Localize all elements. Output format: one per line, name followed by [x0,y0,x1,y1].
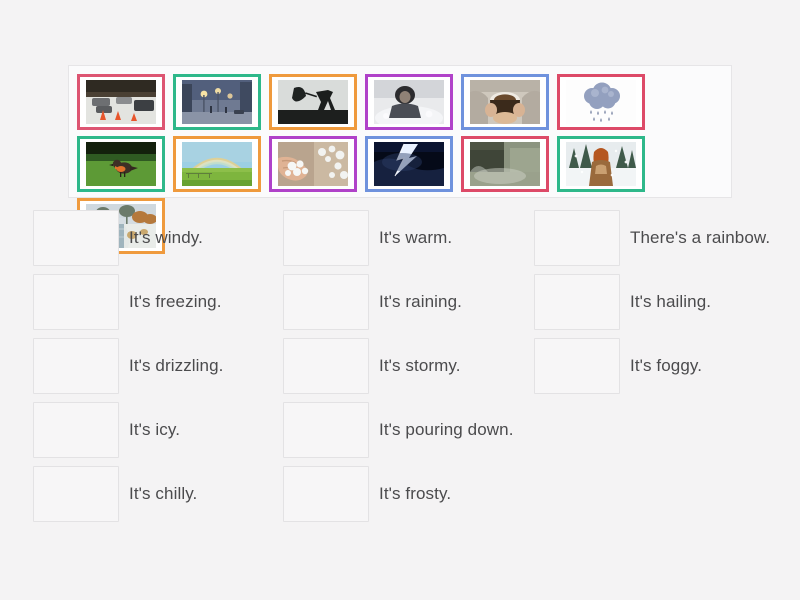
dropzone-raining[interactable] [283,274,369,330]
tile-hailstones[interactable] [269,136,357,192]
answer-chilly: It's chilly. [33,466,273,522]
misty-bridge-photo [470,142,540,186]
girl-in-snow-photo [566,142,636,186]
answer-foggy-label: It's foggy. [630,355,702,376]
answer-windy-label: It's windy. [129,227,203,248]
dropzone-pouring-down[interactable] [283,402,369,458]
hot-drink-hands-photo [470,80,540,124]
answer-pouring-down: It's pouring down. [283,402,523,458]
answer-hailing: It's hailing. [534,274,774,330]
windy-umbrella-photo [278,80,348,124]
hailstones-in-hand-photo [278,142,348,186]
answer-stormy-label: It's stormy. [379,355,461,376]
answer-rainbow-label: There's a rainbow. [630,227,770,248]
dropzone-icy[interactable] [33,402,119,458]
answer-icy-label: It's icy. [129,419,180,440]
tile-snowy-street[interactable] [77,74,165,130]
answer-column-1: It's windy.It's freezing.It's drizzling.… [33,210,273,530]
snowy-street-photo [86,80,156,124]
answer-pouring-down-label: It's pouring down. [379,419,514,440]
rain-cloud-illustration [566,80,636,124]
dropzone-foggy[interactable] [534,338,620,394]
answer-hailing-label: It's hailing. [630,291,711,312]
answer-column-3: There's a rainbow.It's hailing.It's fogg… [534,210,774,402]
tile-freezing-snow[interactable] [365,74,453,130]
dropzone-rainbow[interactable] [534,210,620,266]
dropzone-freezing[interactable] [33,274,119,330]
tile-foggy-street[interactable] [173,74,261,130]
rainbow-field-photo [182,142,252,186]
dropzone-warm[interactable] [283,210,369,266]
image-tile-tray [68,65,732,198]
answer-windy: It's windy. [33,210,273,266]
answer-freezing: It's freezing. [33,274,273,330]
dropzone-frosty[interactable] [283,466,369,522]
tile-snow-girl[interactable] [557,136,645,192]
answer-rainbow: There's a rainbow. [534,210,774,266]
dropzone-drizzling[interactable] [33,338,119,394]
dropzone-chilly[interactable] [33,466,119,522]
answer-icy: It's icy. [33,402,273,458]
answer-warm-label: It's warm. [379,227,452,248]
tile-robin-grass[interactable] [77,136,165,192]
dropzone-hailing[interactable] [534,274,620,330]
answer-column-2: It's warm.It's raining.It's stormy.It's … [283,210,523,530]
answer-drizzling: It's drizzling. [33,338,273,394]
tile-warm-drink[interactable] [461,74,549,130]
lightning-storm-photo [374,142,444,186]
answer-raining-label: It's raining. [379,291,462,312]
tile-drizzle-bridge[interactable] [461,136,549,192]
answer-foggy: It's foggy. [534,338,774,394]
answer-raining: It's raining. [283,274,523,330]
answer-chilly-label: It's chilly. [129,483,197,504]
answer-freezing-label: It's freezing. [129,291,222,312]
person-in-snow-photo [374,80,444,124]
answer-drizzling-label: It's drizzling. [129,355,224,376]
tile-windy-umbrella[interactable] [269,74,357,130]
tile-lightning[interactable] [365,136,453,192]
answer-frosty: It's frosty. [283,466,523,522]
tile-rainbow-field[interactable] [173,136,261,192]
answer-frosty-label: It's frosty. [379,483,451,504]
foggy-city-street-photo [182,80,252,124]
tile-rain-cloud[interactable] [557,74,645,130]
answer-stormy: It's stormy. [283,338,523,394]
dropzone-stormy[interactable] [283,338,369,394]
robin-on-grass-photo [86,142,156,186]
answer-warm: It's warm. [283,210,523,266]
dropzone-windy[interactable] [33,210,119,266]
